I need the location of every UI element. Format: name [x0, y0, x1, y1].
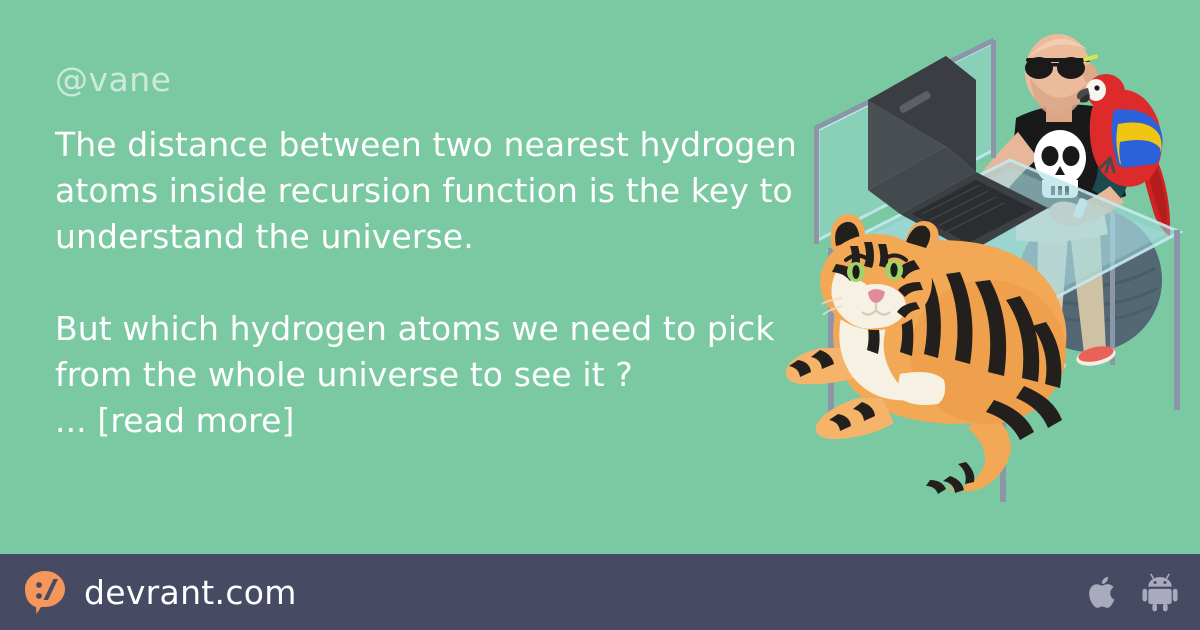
- post-content: @vane The distance between two nearest h…: [55, 62, 815, 444]
- post-paragraph-2: But which hydrogen atoms we need to pick…: [55, 306, 815, 444]
- store-icons-group: [1086, 572, 1178, 612]
- devrant-logo: [22, 569, 68, 615]
- speech-bubble-icon: [22, 569, 68, 615]
- tiger-illustration: [786, 214, 1067, 494]
- apple-icon[interactable]: [1086, 572, 1122, 612]
- tiger-head: [820, 214, 939, 330]
- desk-legs-back: [935, 130, 1115, 365]
- brand-name-label: devrant.com: [84, 576, 297, 609]
- parrot-icon: [1077, 74, 1170, 236]
- post-paragraph-1: The distance between two nearest hydroge…: [55, 122, 815, 260]
- laptop-icon: [868, 56, 1048, 252]
- paragraph-spacer: [55, 260, 815, 306]
- post-username[interactable]: @vane: [55, 62, 815, 98]
- glass-desk: [814, 40, 1180, 502]
- illustration-man-at-desk-with-tiger: [780, 0, 1200, 560]
- person-figure: [947, 34, 1132, 381]
- sunglasses-icon: [1025, 54, 1098, 79]
- footer-bar: devrant.com: [0, 554, 1200, 630]
- brand-link[interactable]: devrant.com: [22, 569, 297, 615]
- exercise-ball-seat: [1018, 208, 1162, 352]
- skull-tshirt-graphic: [1034, 130, 1086, 198]
- devrant-post-card: @vane The distance between two nearest h…: [0, 0, 1200, 630]
- android-icon[interactable]: [1142, 572, 1178, 612]
